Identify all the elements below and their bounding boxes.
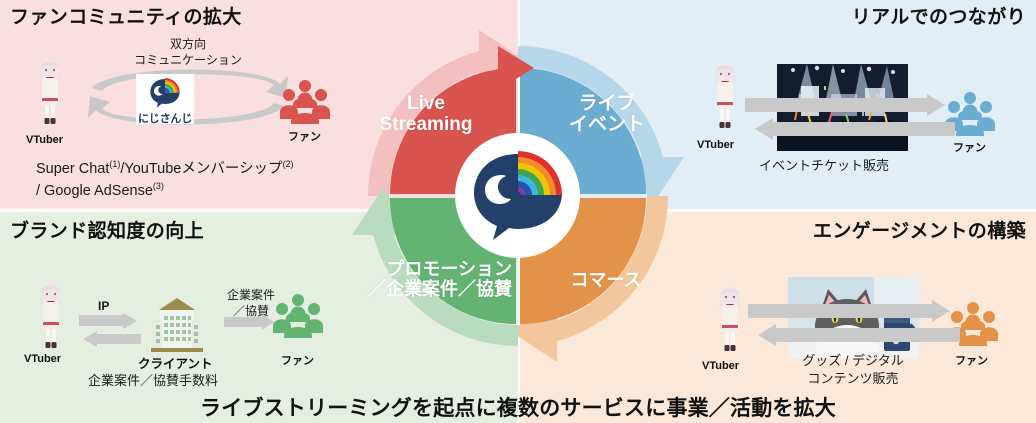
fan-label: ファン	[953, 139, 986, 155]
bidirectional-flow-label: 双方向 コミュニケーション	[98, 36, 278, 68]
nijisanji-logo	[468, 148, 568, 244]
fans-group-icon	[280, 78, 330, 124]
fan-label: ファン	[955, 352, 988, 368]
quadrant-title-bottom-right: エンゲージメントの構築	[813, 216, 1026, 243]
client-building-icon	[143, 296, 211, 354]
ip-arrow-label: IP	[98, 299, 109, 313]
monetization-note: Super Chat(1)/YouTubeメンバーシップ(2) / Google…	[36, 158, 294, 202]
ip-exchange-arrows	[79, 313, 141, 347]
vtuber-label: VTuber	[697, 139, 734, 151]
infographic-canvas: ファンコミュニティの拡大 リアルでのつながり ブランド認知度の向上 エンゲージメ…	[0, 0, 1036, 423]
sponsorship-fee-caption: 企業案件／協賛手数料	[88, 370, 218, 389]
fan-label: ファン	[281, 352, 314, 368]
vtuber-label: VTuber	[24, 353, 61, 365]
fan-label: ファン	[288, 128, 321, 144]
fans-group-icon	[273, 292, 323, 338]
vtuber-avatar	[712, 285, 748, 357]
vtuber-avatar	[33, 282, 69, 354]
sponsorship-arrow	[224, 314, 276, 330]
quadrant-title-bottom-left: ブランド認知度の向上	[10, 216, 204, 243]
vtuber-label: VTuber	[702, 360, 739, 372]
cycle-label-live-event: ライブ イベント	[552, 93, 662, 136]
cycle-label-live-streaming: Live Streaming	[365, 93, 487, 136]
vtuber-avatar	[32, 58, 68, 130]
exchange-arrows	[748, 300, 960, 346]
vtuber-avatar	[707, 62, 743, 134]
quadrant-title-top-left: ファンコミュニティの拡大	[10, 2, 242, 29]
event-ticket-caption: イベントチケット販売	[759, 155, 889, 174]
quadrant-title-top-right: リアルでのつながり	[852, 2, 1026, 29]
exchange-arrows	[745, 94, 955, 140]
vtuber-label: VTuber	[26, 134, 63, 146]
goods-sales-caption: グッズ / デジタル コンテンツ販売	[758, 352, 948, 388]
summary-banner: ライブストリーミングを起点に複数のサービスに事業／活動を拡大	[0, 392, 1036, 422]
cycle-label-commerce: コマース	[546, 270, 666, 290]
cycle-label-promotion: プロモーション ／企業案件／協賛	[322, 259, 512, 299]
nijisanji-logo-card: にじさんじ	[136, 74, 194, 124]
nijisanji-logo-caption: にじさんじ	[136, 110, 194, 126]
